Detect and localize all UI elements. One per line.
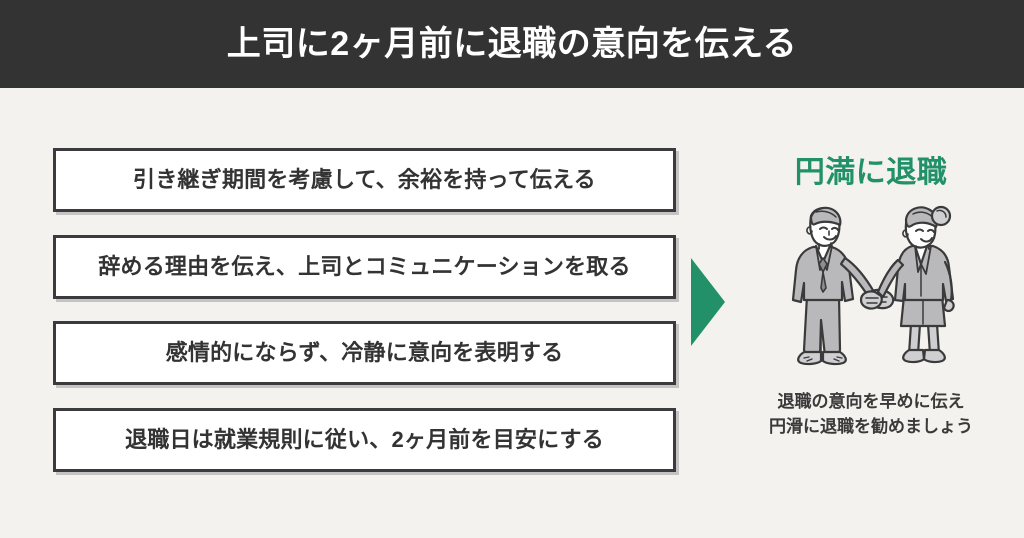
- result-caption: 退職の意向を早めに伝え 円滑に退職を勧めましょう: [769, 390, 973, 439]
- handshake-illustration: [771, 200, 971, 378]
- header-bar: 上司に2ヶ月前に退職の意向を伝える: [0, 0, 1024, 88]
- triangle-right-icon: [691, 258, 725, 346]
- step-box: 辞める理由を伝え、上司とコミュニケーションを取る: [53, 235, 676, 299]
- result-panel: 円満に退職: [726, 140, 1016, 480]
- infographic-slide: 上司に2ヶ月前に退職の意向を伝える 引き継ぎ期間を考慮して、余裕を持って伝える …: [0, 0, 1024, 538]
- step-label: 感情的にならず、冷静に意向を表明する: [166, 342, 564, 364]
- step-label: 辞める理由を伝え、上司とコミュニケーションを取る: [98, 256, 630, 278]
- step-box: 退職日は就業規則に従い、2ヶ月前を目安にする: [53, 408, 676, 472]
- handshake-illustration-svg: [771, 200, 971, 378]
- result-heading: 円満に退職: [795, 158, 948, 188]
- step-box: 引き継ぎ期間を考慮して、余裕を持って伝える: [53, 148, 676, 212]
- step-label: 退職日は就業規則に従い、2ヶ月前を目安にする: [125, 429, 604, 451]
- steps-list: 引き継ぎ期間を考慮して、余裕を持って伝える 辞める理由を伝え、上司とコミュニケー…: [53, 148, 676, 472]
- step-label: 引き継ぎ期間を考慮して、余裕を持って伝える: [133, 169, 596, 191]
- result-caption-line-2: 円滑に退職を勧めましょう: [769, 415, 973, 440]
- step-box: 感情的にならず、冷静に意向を表明する: [53, 321, 676, 385]
- page-title: 上司に2ヶ月前に退職の意向を伝える: [227, 27, 797, 61]
- result-caption-line-1: 退職の意向を早めに伝え: [769, 390, 973, 415]
